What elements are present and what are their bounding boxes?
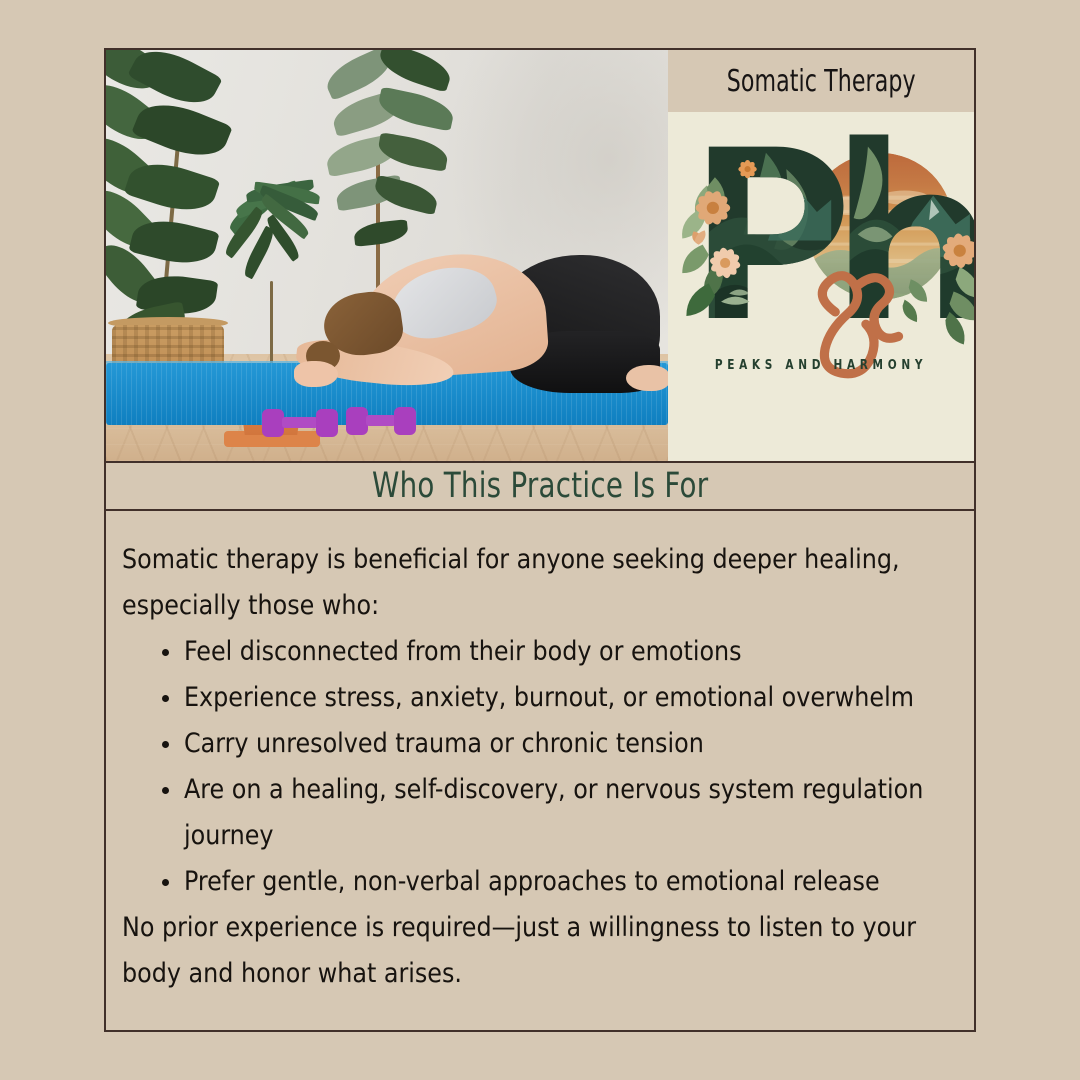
person-foot — [626, 365, 668, 391]
section-heading-banner: Who This Practice Is For — [106, 461, 974, 511]
list-item: Feel disconnected from their body or emo… — [184, 629, 948, 675]
body-content: Somatic therapy is beneficial for anyone… — [106, 511, 974, 1030]
brand-tagline: PEAKS AND HARMONY — [683, 358, 958, 373]
closing-paragraph: No prior experience is required—just a w… — [122, 905, 948, 997]
page-title: Who This Practice Is For — [372, 466, 708, 506]
top-row: Somatic Therapy — [106, 50, 974, 461]
list-item: Prefer gentle, non-verbal approaches to … — [184, 859, 948, 905]
brand-title: Somatic Therapy — [727, 64, 916, 99]
list-item: Are on a healing, self-discovery, or ner… — [184, 767, 948, 859]
person-hand — [294, 361, 338, 387]
yoga-photo — [106, 50, 668, 461]
intro-paragraph: Somatic therapy is beneficial for anyone… — [122, 537, 948, 629]
criteria-list: Feel disconnected from their body or emo… — [122, 629, 948, 905]
person-childs-pose — [296, 207, 668, 397]
list-item: Experience stress, anxiety, burnout, or … — [184, 675, 948, 721]
infographic-card: Somatic Therapy — [104, 48, 976, 1032]
brand-logo-panel: Somatic Therapy — [668, 50, 974, 461]
logo-container: PEAKS AND HARMONY — [668, 112, 974, 461]
peaks-and-harmony-logo-icon — [668, 112, 974, 461]
list-item: Carry unresolved trauma or chronic tensi… — [184, 721, 948, 767]
brand-title-bar: Somatic Therapy — [668, 50, 974, 112]
